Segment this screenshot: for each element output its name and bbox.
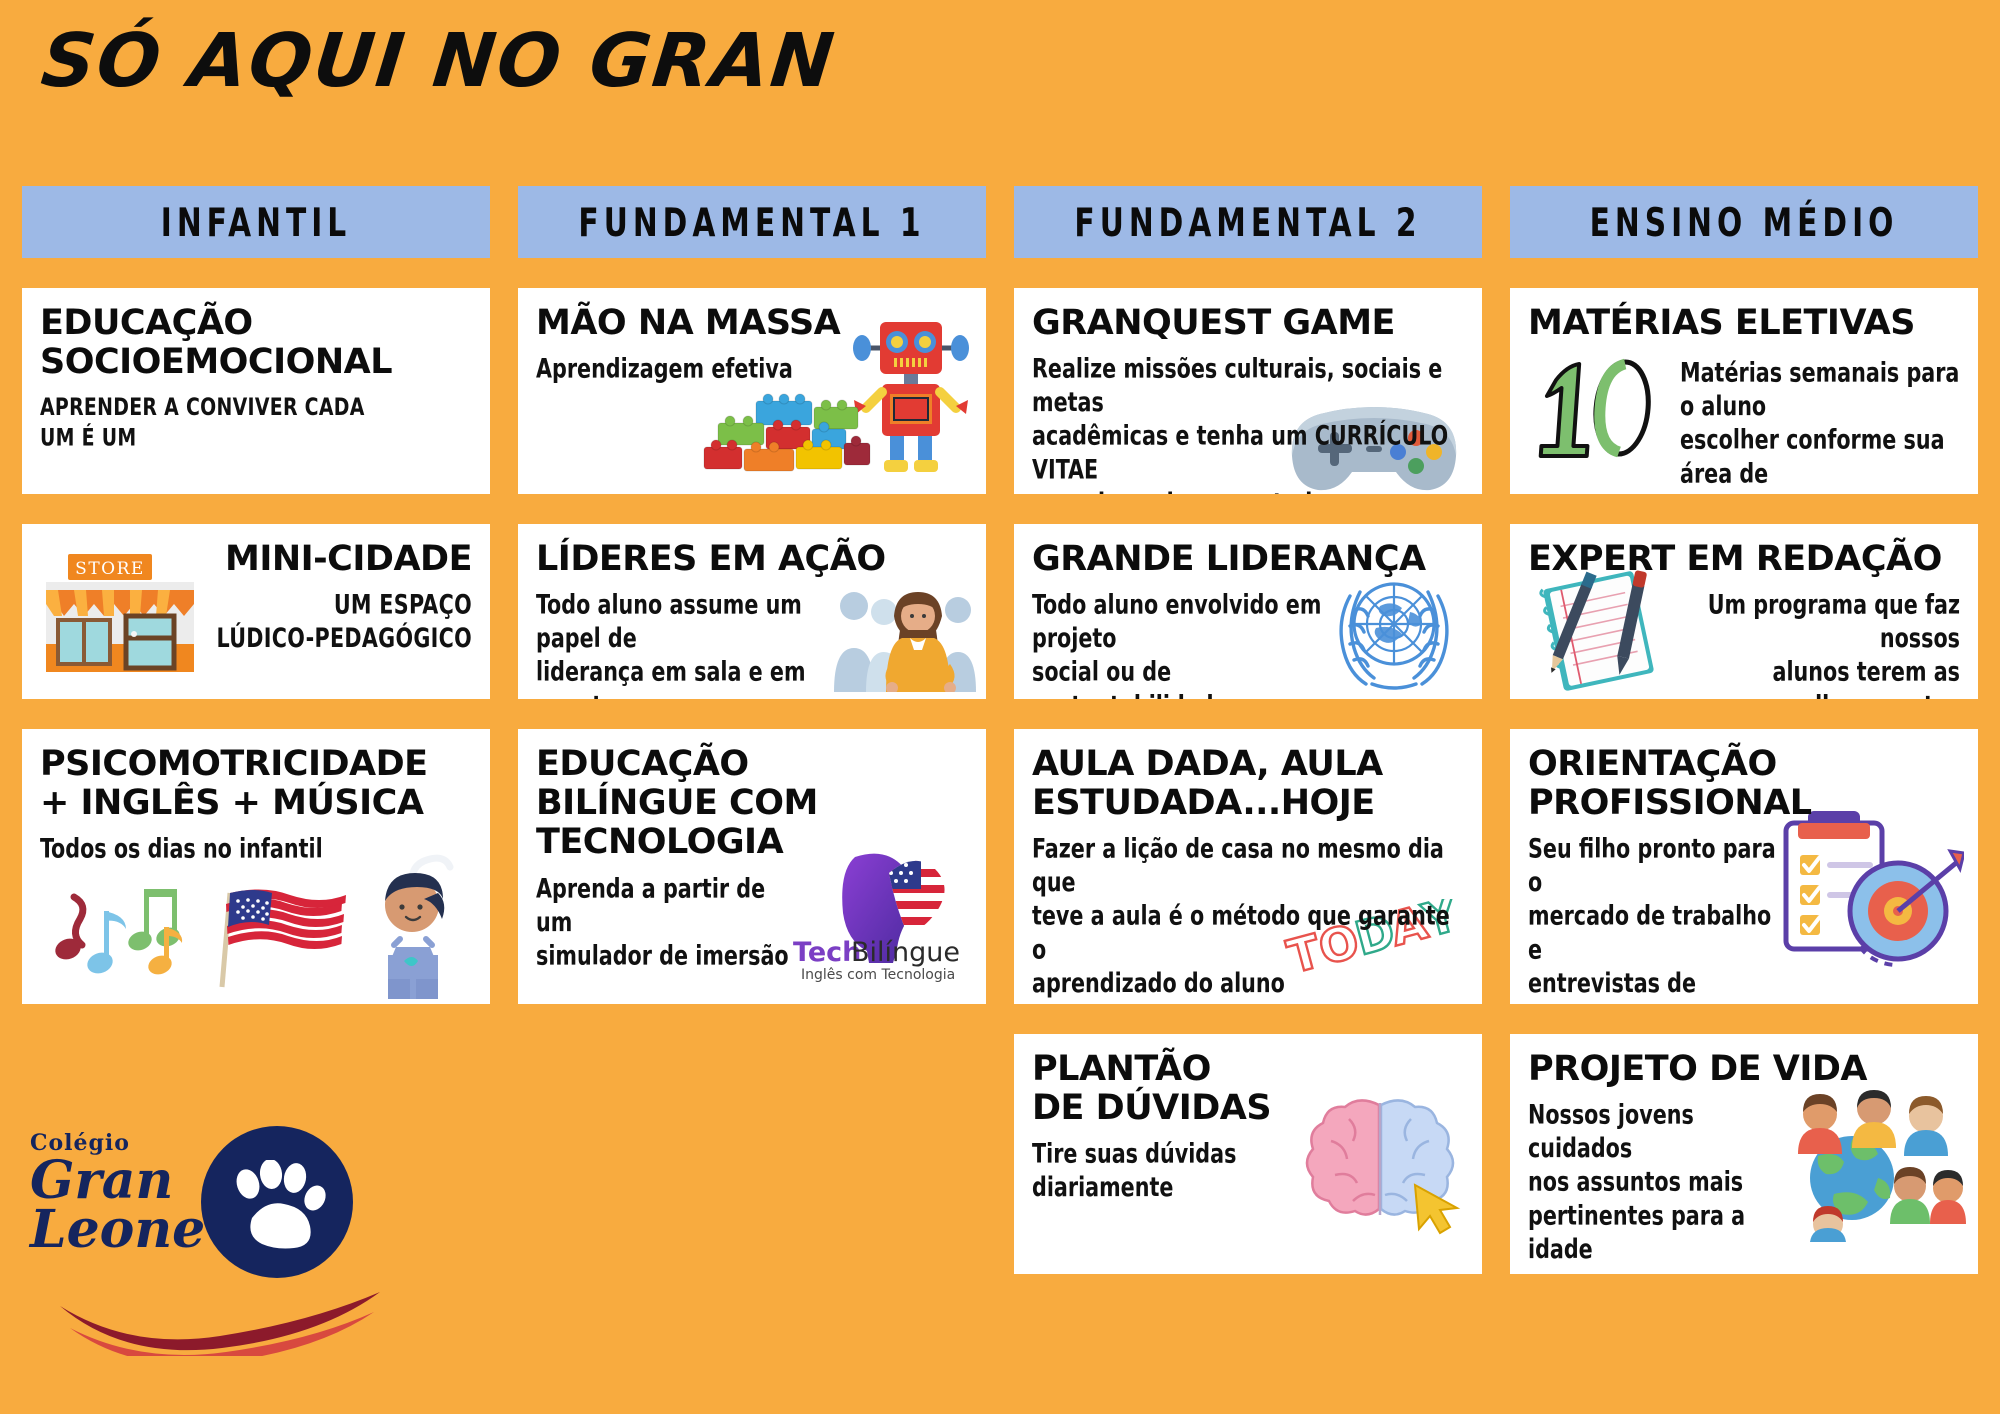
column-header-ensino-medio: ENSINO MÉDIO (1510, 186, 1978, 258)
usa-flag-icon (212, 879, 352, 989)
card-title: MATÉRIAS ELETIVAS (1528, 304, 1960, 343)
column-header-fundamental-1: FUNDAMENTAL 1 (518, 186, 986, 258)
child-stretching-icon (352, 849, 472, 999)
card-educacao-socioemocional[interactable]: EDUCAÇÃO SOCIOEMOCIONAL APRENDER A CONVI… (22, 288, 490, 494)
logo-wordmark: Colégio Gran Leone (30, 1130, 205, 1255)
card-subtitle: Um programa que faz nossos alunos terem … (1670, 589, 1960, 699)
logo-gran: Gran (30, 1156, 205, 1205)
card-subtitle: Realize missões culturais, sociais e met… (1032, 353, 1462, 494)
card-materias-eletivas[interactable]: MATÉRIAS ELETIVAS Matérias semanais para… (1510, 288, 1978, 494)
card-title: LÍDERES EM AÇÃO (536, 540, 968, 579)
column-header-label: FUNDAMENTAL 2 (1074, 199, 1421, 245)
svg-text:Bilíngue: Bilíngue (851, 937, 960, 968)
card-title: GRANDE LIDERANÇA (1032, 540, 1464, 579)
card-mini-cidade[interactable]: STORE MINI-CIDADE UM (22, 524, 490, 699)
card-grande-lideranca[interactable]: GRANDE LIDERANÇA Todo aluno envolvido em… (1014, 524, 1482, 699)
card-subtitle: Todo aluno envolvido em projeto social o… (1032, 589, 1332, 699)
card-title: ORIENTAÇÃO PROFISSIONAL (1528, 745, 1960, 823)
card-subtitle: Todo aluno assume um papel de liderança … (536, 589, 836, 699)
card-title: GRANQUEST GAME (1032, 304, 1464, 343)
card-expert-em-redacao[interactable]: EXPERT EM REDAÇÃO (1510, 524, 1978, 699)
column-header-infantil: INFANTIL (22, 186, 490, 258)
card-title: EXPERT EM REDAÇÃO (1528, 540, 1960, 579)
notebook-pencil-icon (1528, 564, 1678, 692)
card-subtitle: Fazer a lição de casa no mesmo dia que t… (1032, 833, 1462, 1001)
card-subtitle: Tire suas dúvidas diariamente (1032, 1138, 1282, 1205)
school-logo: Colégio Gran Leone (26, 1108, 346, 1348)
united-nations-icon (1324, 566, 1464, 694)
card-title: EDUCAÇÃO SOCIOEMOCIONAL (40, 304, 472, 382)
card-title: MÃO NA MASSA (536, 304, 968, 343)
globe-people-icon (1778, 1082, 1968, 1242)
svg-text:Inglês com Tecnologia: Inglês com Tecnologia (801, 967, 955, 983)
card-subtitle: Seu filho pronto para o mercado de traba… (1528, 833, 1778, 1004)
column-fundamental-2: FUNDAMENTAL 2 GRANQUEST GAME Realize mis… (1014, 186, 1482, 1304)
column-header-label: INFANTIL (161, 199, 351, 245)
card-title: PROJETO DE VIDA (1528, 1050, 1960, 1089)
lego-bricks-icon (696, 383, 876, 478)
logo-leone: Leone (30, 1205, 205, 1254)
card-title: MINI-CIDADE (40, 540, 472, 579)
infographic-page: SÓ AQUI NO GRAN INFANTIL EDUCAÇÃO SOCIOE… (0, 0, 2000, 1414)
people-group-icon (832, 582, 982, 692)
card-title: PSICOMOTRICIDADE + INGLÊS + MÚSICA (40, 745, 472, 823)
column-ensino-medio: ENSINO MÉDIO MATÉRIAS ELETIVAS Matérias … (1510, 186, 1978, 1304)
card-mao-na-massa[interactable]: MÃO NA MASSA Aprendizagem efetiva (518, 288, 986, 494)
card-subtitle: UM ESPAÇO LÚDICO-PEDAGÓGICO (212, 589, 472, 656)
number-ten-icon (1530, 352, 1660, 462)
card-lideres-em-acao[interactable]: LÍDERES EM AÇÃO Todo aluno assume um pap… (518, 524, 986, 699)
card-title: AULA DADA, AULA ESTUDADA...HOJE (1032, 745, 1464, 823)
card-aula-dada-aula-estudada[interactable]: AULA DADA, AULA ESTUDADA...HOJE Fazer a … (1014, 729, 1482, 1004)
card-plantao-de-duvidas[interactable]: PLANTÃO DE DÚVIDAS Tire suas dúvidas dia… (1014, 1034, 1482, 1274)
logo-swoosh (56, 1276, 386, 1356)
column-header-label: FUNDAMENTAL 1 (578, 199, 925, 245)
card-title: PLANTÃO DE DÚVIDAS (1032, 1050, 1464, 1128)
paw-print-icon (222, 1160, 332, 1250)
card-orientacao-profissional[interactable]: ORIENTAÇÃO PROFISSIONAL Seu filho pronto… (1510, 729, 1978, 1004)
card-granquest-game[interactable]: GRANQUEST GAME Realize missões culturais… (1014, 288, 1482, 494)
card-psicomotricidade[interactable]: PSICOMOTRICIDADE + INGLÊS + MÚSICA Todos… (22, 729, 490, 1004)
card-title: EDUCAÇÃO BILÍNGUE COM TECNOLOGIA (536, 745, 968, 863)
card-subtitle: Nossos jovens cuidados nos assuntos mais… (1528, 1099, 1768, 1267)
music-notes-icon (52, 879, 202, 984)
card-projeto-de-vida[interactable]: PROJETO DE VIDA Nossos jovens cuidados n… (1510, 1034, 1978, 1274)
card-subtitle: APRENDER A CONVIVER CADA UM É UM (40, 392, 370, 453)
column-header-fundamental-2: FUNDAMENTAL 2 (1014, 186, 1482, 258)
column-header-label: ENSINO MÉDIO (1590, 199, 1899, 245)
clipboard-target-icon (1774, 807, 1964, 972)
card-subtitle: Aprenda a partir de um simulador de imer… (536, 873, 806, 974)
card-subtitle: Aprendizagem efetiva (536, 353, 866, 387)
column-fundamental-1: FUNDAMENTAL 1 MÃO NA MASSA Aprendizagem … (518, 186, 986, 1304)
card-subtitle: Matérias semanais para o aluno escolher … (1680, 357, 1960, 494)
card-subtitle: Todos os dias no infantil (40, 833, 370, 867)
page-title: SÓ AQUI NO GRAN (37, 18, 839, 104)
card-educacao-bilingue[interactable]: EDUCAÇÃO BILÍNGUE COM TECNOLOGIA Aprenda… (518, 729, 986, 1004)
cursor-arrow-icon (1415, 1185, 1457, 1233)
